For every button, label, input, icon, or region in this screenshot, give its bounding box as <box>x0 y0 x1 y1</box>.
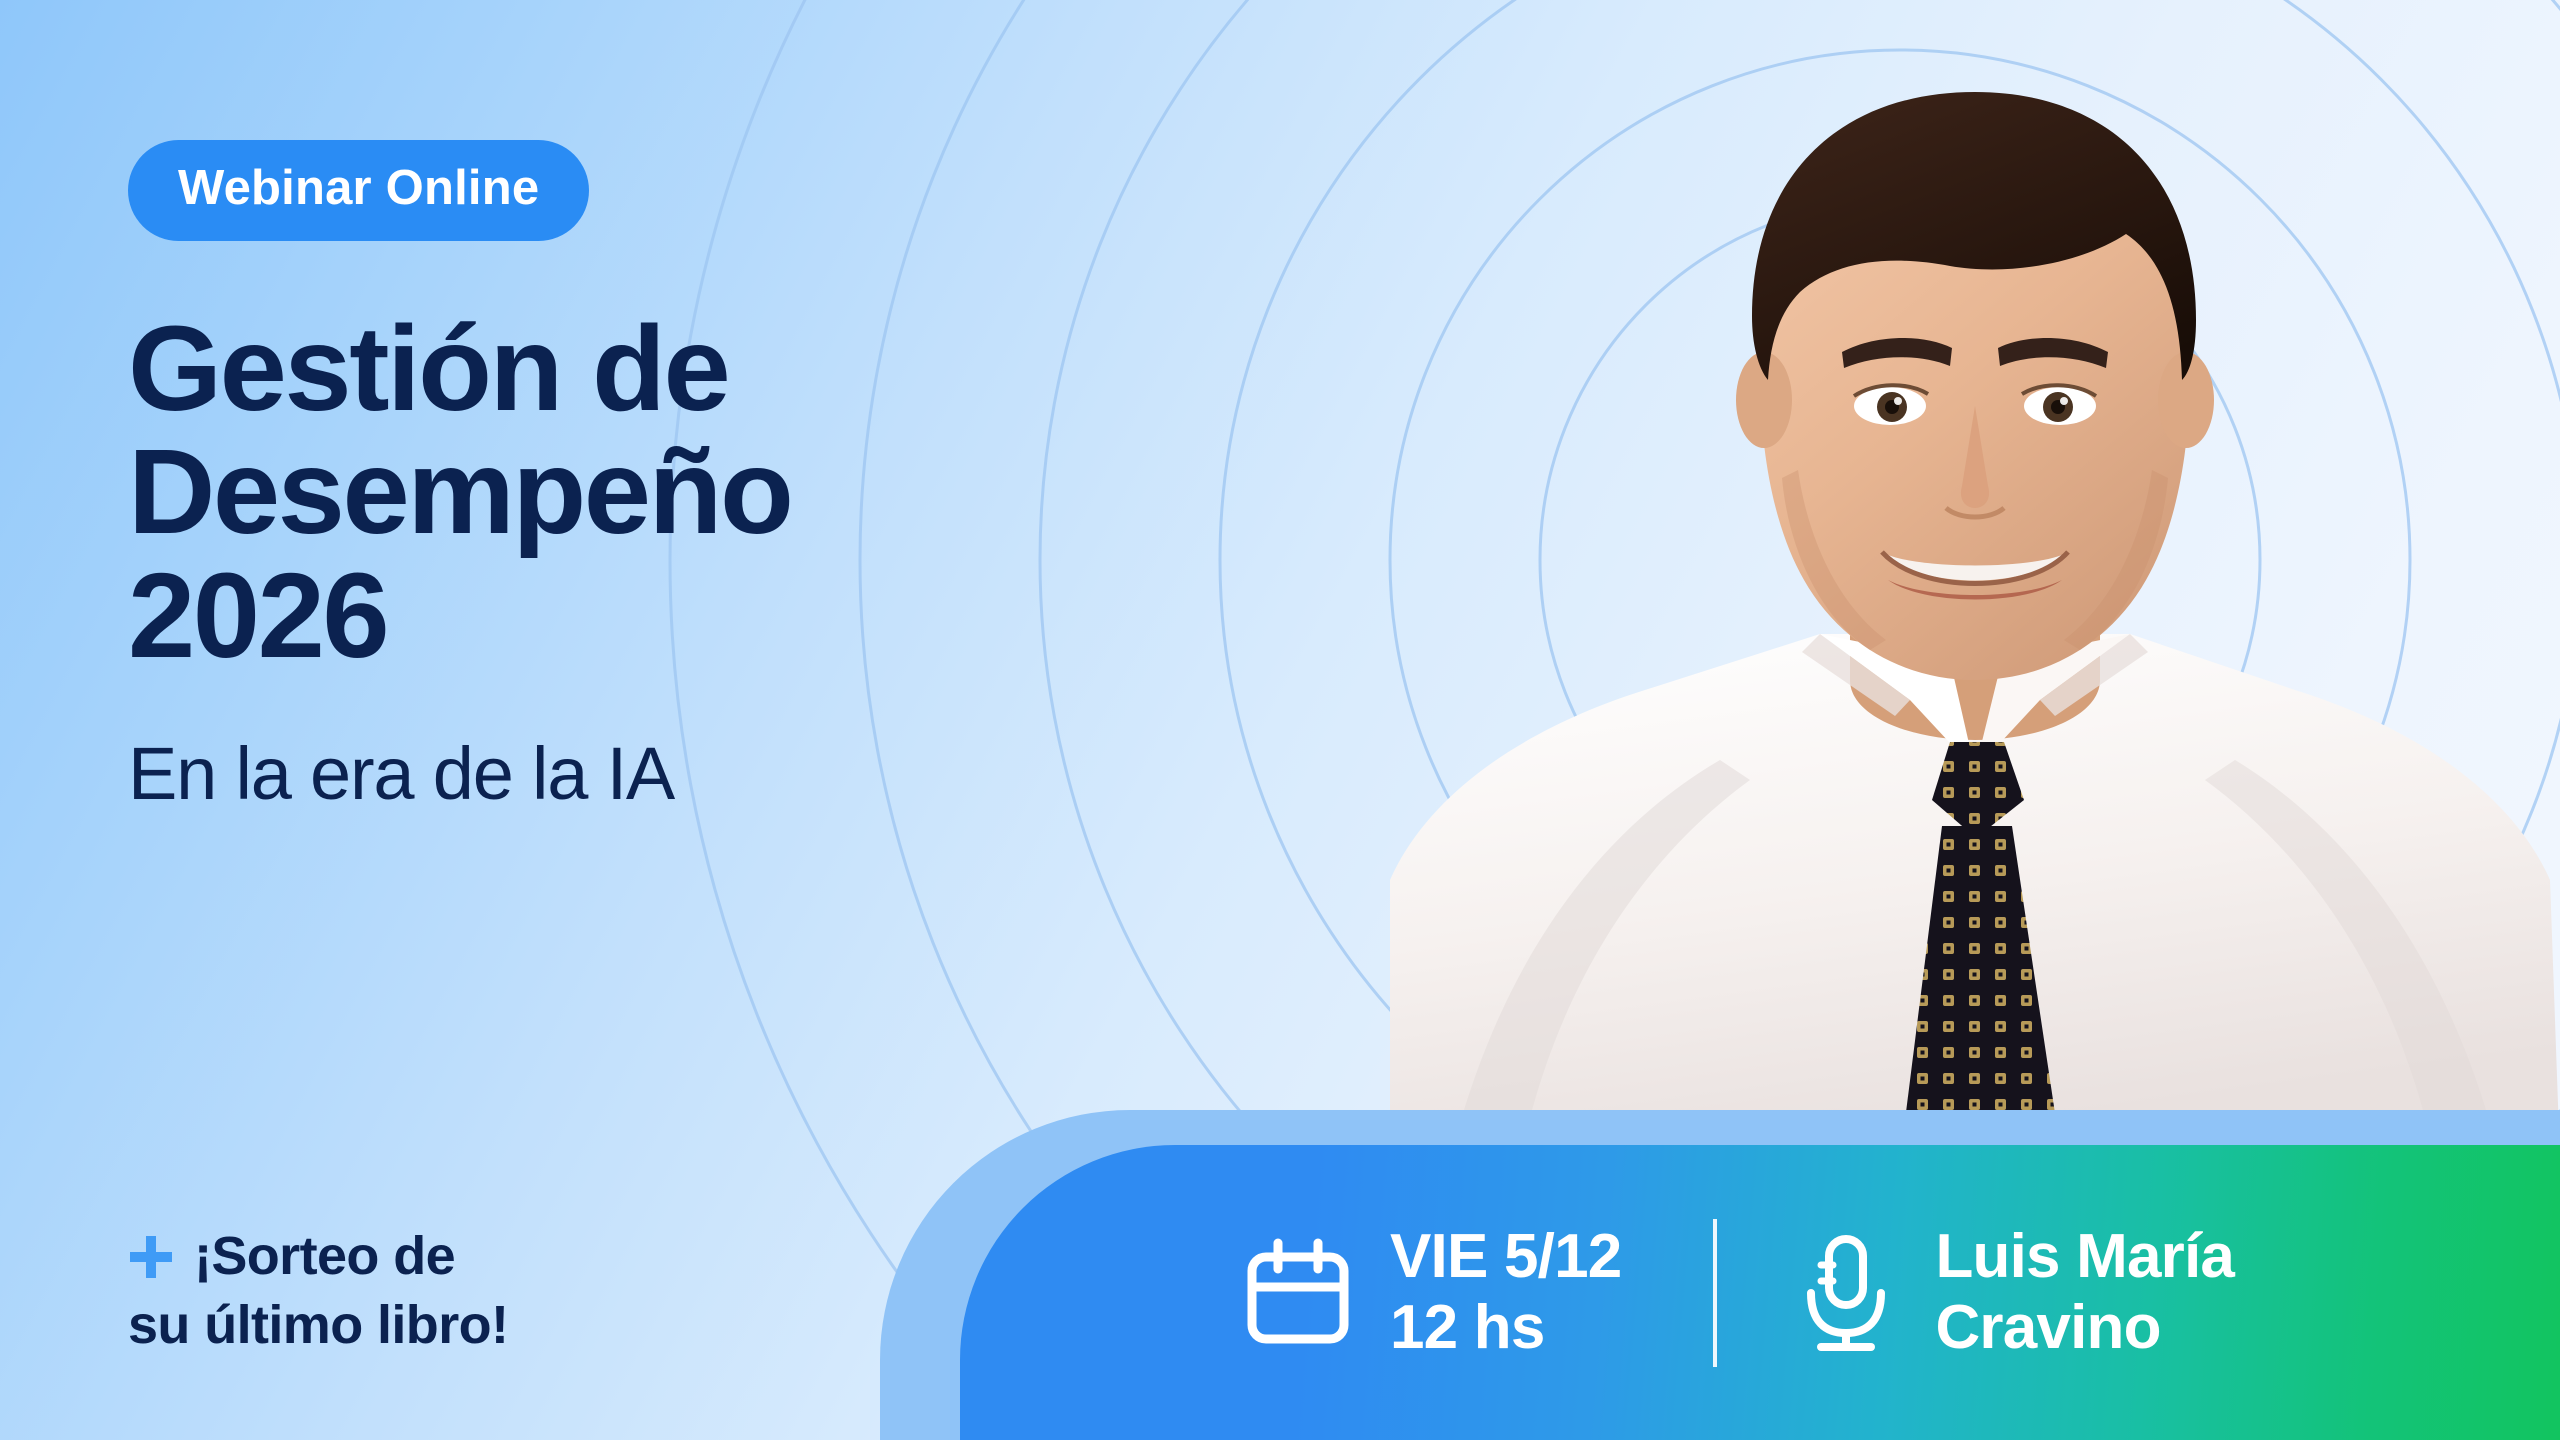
microphone-icon <box>1791 1231 1901 1355</box>
vertical-divider <box>1713 1219 1717 1367</box>
event-date: VIE 5/12 <box>1390 1222 1621 1293</box>
webinar-promo-banner: Webinar Online Gestión de Desempeño 2026… <box>0 0 2560 1440</box>
event-date-text: VIE 5/12 12 hs <box>1390 1222 1621 1363</box>
speaker-first-name: Luis María <box>1935 1222 2234 1293</box>
event-date-group: VIE 5/12 12 hs <box>1240 1222 1621 1363</box>
event-time: 12 hs <box>1390 1293 1621 1364</box>
event-info-bar: VIE 5/12 12 hs <box>0 1110 2560 1440</box>
webinar-online-badge: Webinar Online <box>128 140 589 241</box>
headline-line-1: Gestión de <box>128 307 1278 430</box>
subtitle: En la era de la IA <box>128 733 1278 814</box>
page-title: Gestión de Desempeño 2026 <box>128 307 1278 677</box>
speaker-last-name: Cravino <box>1935 1293 2234 1364</box>
speaker-name-text: Luis María Cravino <box>1935 1222 2234 1363</box>
event-bar: VIE 5/12 12 hs <box>960 1145 2560 1440</box>
calendar-icon <box>1240 1235 1356 1351</box>
headline-line-3: 2026 <box>128 554 1278 677</box>
speaker-photo <box>1390 0 2560 1160</box>
event-speaker-group: Luis María Cravino <box>1791 1222 2234 1363</box>
headline-line-2: Desempeño <box>128 430 1278 553</box>
